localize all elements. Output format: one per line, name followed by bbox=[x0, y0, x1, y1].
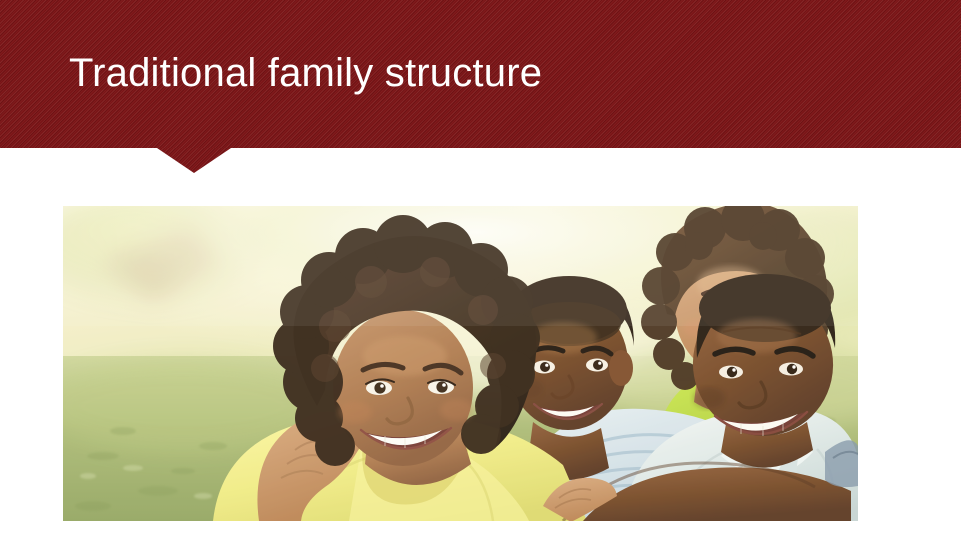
family-photo-illustration bbox=[63, 206, 858, 521]
page-title: Traditional family structure bbox=[69, 49, 889, 97]
banner-notch-triangle bbox=[157, 148, 231, 173]
slide-canvas: Traditional family structure bbox=[0, 0, 961, 540]
family-photo bbox=[63, 206, 858, 521]
title-banner: Traditional family structure bbox=[0, 0, 961, 148]
